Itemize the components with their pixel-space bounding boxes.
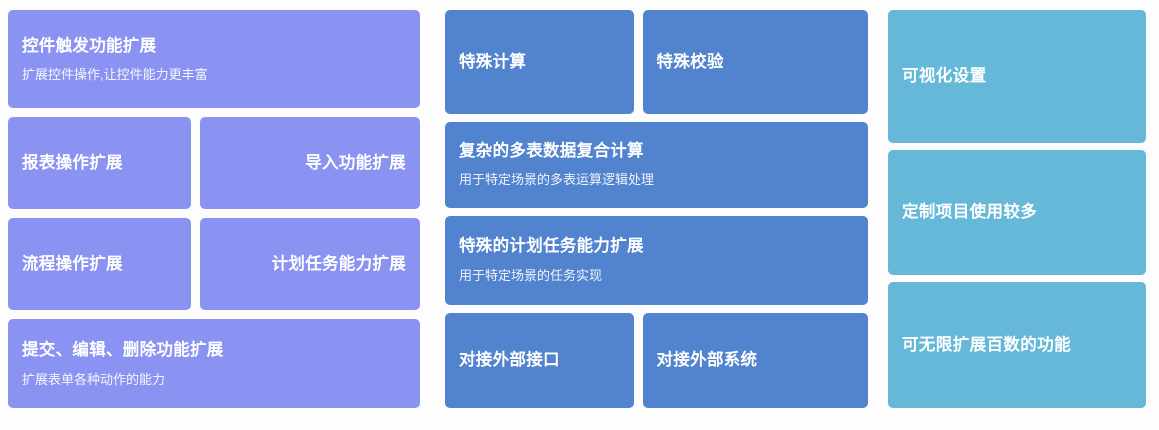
feature-card-board: 控件触发功能扩展 扩展控件操作,让控件能力更丰富 报表操作扩展 导入功能扩展 流… bbox=[0, 0, 1159, 430]
card-subtitle: 用于特定场景的多表运算逻辑处理 bbox=[459, 172, 854, 189]
card-custom-project-usage[interactable]: 定制项目使用较多 bbox=[888, 150, 1146, 274]
card-title: 对接外部系统 bbox=[657, 350, 854, 371]
card-visual-configuration[interactable]: 可视化设置 bbox=[888, 10, 1146, 143]
card-title: 提交、编辑、删除功能扩展 bbox=[22, 340, 406, 361]
card-row: 对接外部接口 对接外部系统 bbox=[445, 313, 868, 408]
computation-integration-column: 特殊计算 特殊校验 复杂的多表数据复合计算 用于特定场景的多表运算逻辑处理 特殊… bbox=[445, 10, 868, 408]
card-external-interface-integration[interactable]: 对接外部接口 bbox=[445, 313, 634, 408]
card-process-operation-extension[interactable]: 流程操作扩展 bbox=[8, 218, 191, 310]
card-title: 特殊的计划任务能力扩展 bbox=[459, 236, 854, 257]
card-row: 报表操作扩展 导入功能扩展 bbox=[8, 117, 420, 209]
capability-highlights-column: 可视化设置 定制项目使用较多 可无限扩展百数的功能 bbox=[888, 10, 1146, 408]
card-title: 计划任务能力扩展 bbox=[272, 254, 406, 275]
card-title: 控件触发功能扩展 bbox=[22, 36, 156, 57]
card-widget-trigger-extension[interactable]: 控件触发功能扩展 扩展控件操作,让控件能力更丰富 bbox=[8, 10, 420, 108]
card-title: 可视化设置 bbox=[902, 66, 1132, 87]
card-title: 特殊计算 bbox=[459, 52, 620, 73]
card-title: 对接外部接口 bbox=[459, 350, 620, 371]
card-subtitle: 用于特定场景的任务实现 bbox=[459, 268, 854, 285]
card-scheduled-task-capability-extension[interactable]: 计划任务能力扩展 bbox=[200, 218, 420, 310]
card-title: 流程操作扩展 bbox=[22, 254, 177, 275]
card-row: 流程操作扩展 计划任务能力扩展 bbox=[8, 218, 420, 310]
card-title: 可无限扩展百数的功能 bbox=[902, 335, 1132, 356]
card-title: 报表操作扩展 bbox=[22, 153, 177, 174]
card-unlimited-extension-capability[interactable]: 可无限扩展百数的功能 bbox=[888, 282, 1146, 408]
card-import-function-extension[interactable]: 导入功能扩展 bbox=[200, 117, 420, 209]
card-external-system-integration[interactable]: 对接外部系统 bbox=[643, 313, 868, 408]
card-report-operation-extension[interactable]: 报表操作扩展 bbox=[8, 117, 191, 209]
form-extension-column: 控件触发功能扩展 扩展控件操作,让控件能力更丰富 报表操作扩展 导入功能扩展 流… bbox=[8, 10, 420, 408]
card-title: 特殊校验 bbox=[657, 52, 854, 73]
card-subtitle: 扩展控件操作,让控件能力更丰富 bbox=[22, 67, 208, 84]
card-subtitle: 扩展表单各种动作的能力 bbox=[22, 372, 406, 389]
card-special-validation[interactable]: 特殊校验 bbox=[643, 10, 868, 114]
card-complex-multitable-composite-calculation[interactable]: 复杂的多表数据复合计算 用于特定场景的多表运算逻辑处理 bbox=[445, 122, 868, 208]
card-title: 导入功能扩展 bbox=[305, 153, 406, 174]
card-row: 特殊计算 特殊校验 bbox=[445, 10, 868, 114]
card-title: 复杂的多表数据复合计算 bbox=[459, 141, 854, 162]
card-special-scheduled-task-extension[interactable]: 特殊的计划任务能力扩展 用于特定场景的任务实现 bbox=[445, 216, 868, 305]
card-special-calculation[interactable]: 特殊计算 bbox=[445, 10, 634, 114]
card-title: 定制项目使用较多 bbox=[902, 202, 1132, 223]
card-submit-edit-delete-extension[interactable]: 提交、编辑、删除功能扩展 扩展表单各种动作的能力 bbox=[8, 319, 420, 408]
